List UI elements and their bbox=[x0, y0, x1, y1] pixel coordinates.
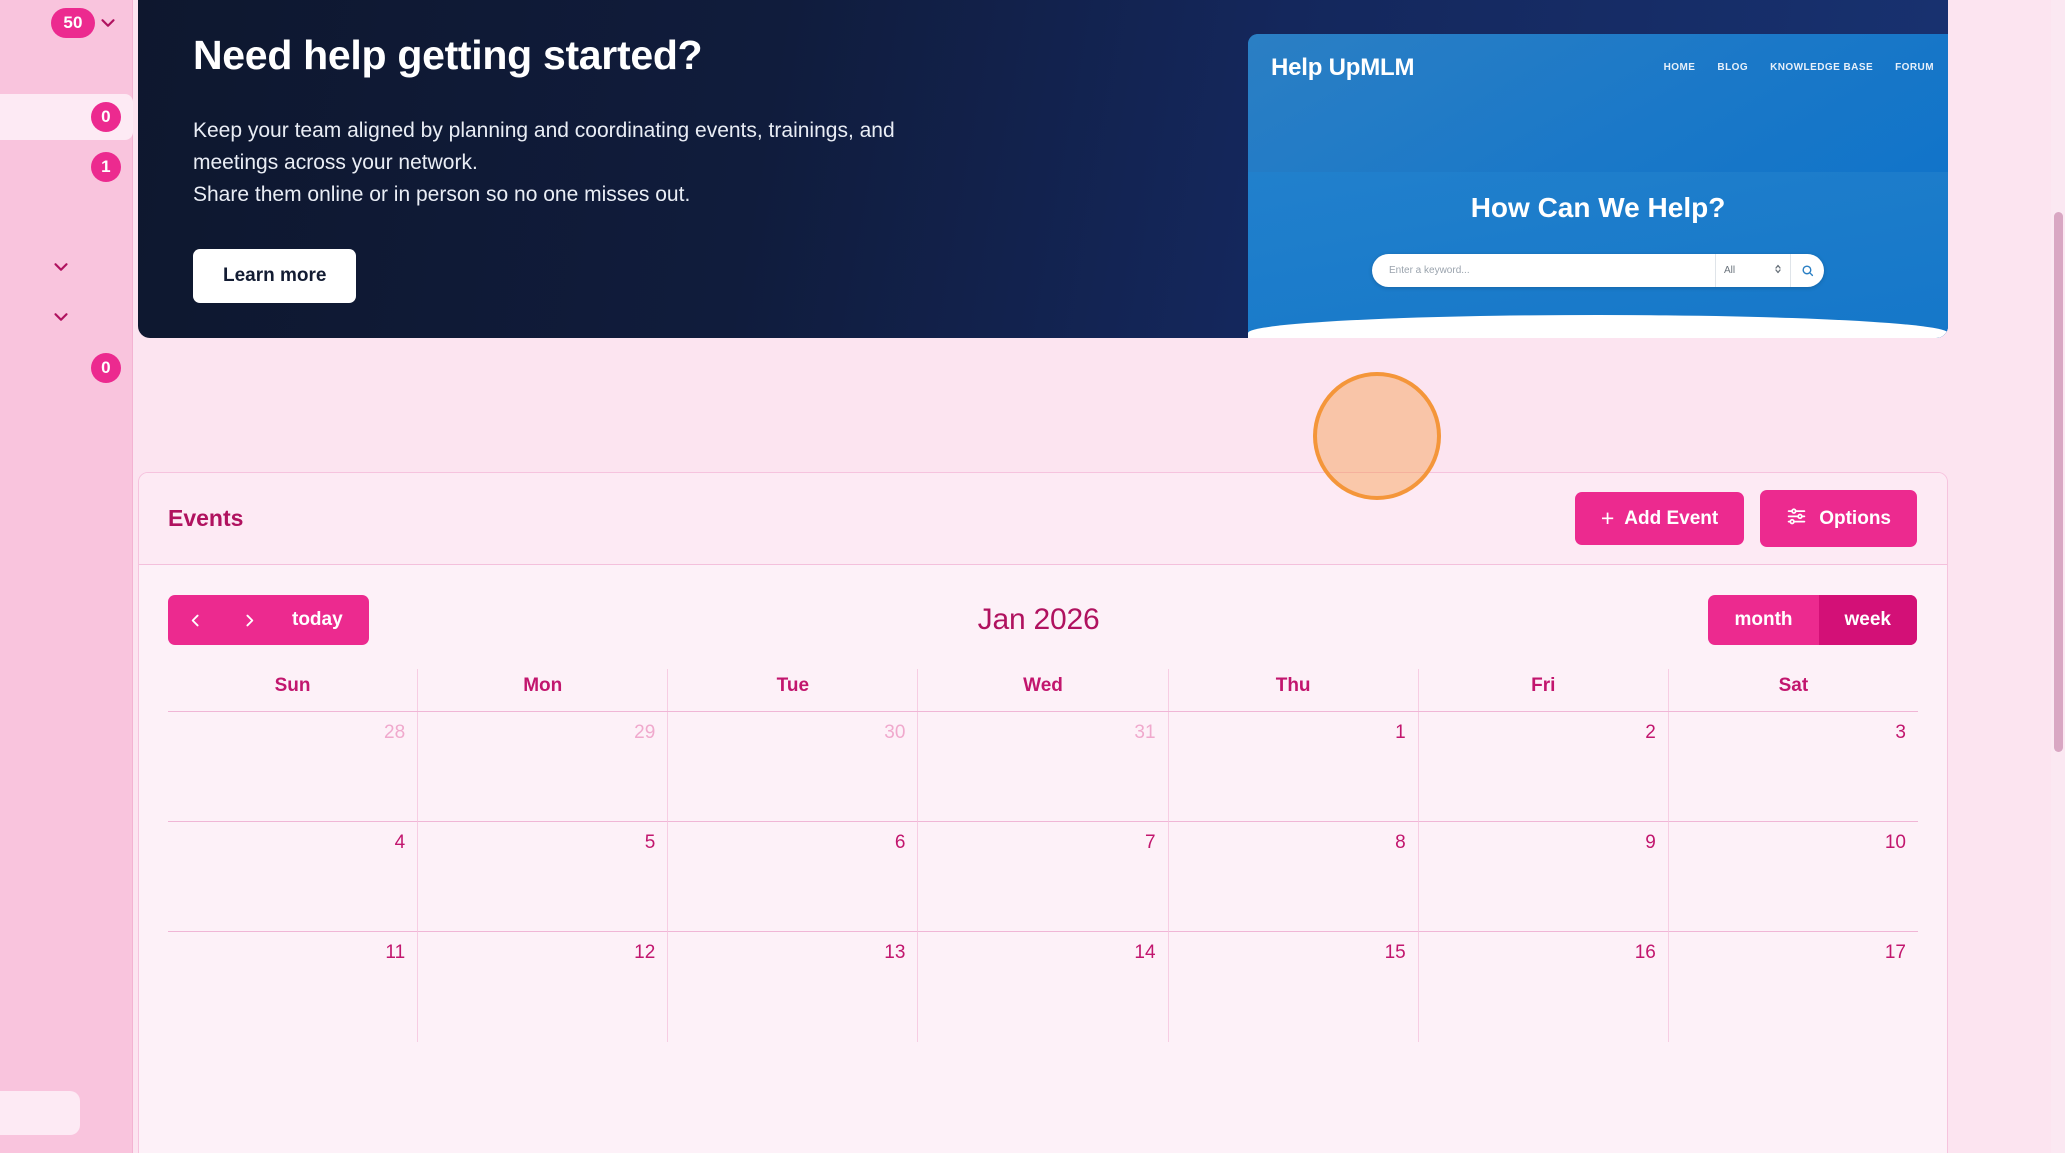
weekday-fri: Fri bbox=[1418, 669, 1668, 711]
sidebar-group-a[interactable] bbox=[0, 244, 133, 290]
calendar-day-cell[interactable]: 10 bbox=[1668, 822, 1918, 932]
learn-more-button[interactable]: Learn more bbox=[193, 249, 356, 303]
calendar-weekday-header: Sun Mon Tue Wed Thu Fri Sat bbox=[168, 669, 1918, 712]
calendar-day-cell[interactable]: 2 bbox=[1418, 712, 1668, 822]
calendar-day-cell[interactable]: 14 bbox=[917, 932, 1167, 1042]
calendar-day-number: 31 bbox=[1134, 722, 1155, 743]
sidebar-item-zero[interactable]: 0 bbox=[0, 94, 133, 140]
view-week-button[interactable]: week bbox=[1819, 595, 1917, 645]
promo-heading: Need help getting started? bbox=[193, 32, 1243, 79]
calendar-day-cell[interactable]: 30 bbox=[667, 712, 917, 822]
calendar-day-number: 4 bbox=[395, 832, 406, 853]
calendar-day-cell[interactable]: 28 bbox=[168, 712, 417, 822]
calendar-day-number: 1 bbox=[1395, 722, 1406, 743]
calendar-day-number: 16 bbox=[1635, 942, 1656, 963]
preview-nav: HOME BLOG KNOWLEDGE BASE FORUM bbox=[1664, 62, 1934, 73]
today-button[interactable]: today bbox=[276, 595, 369, 645]
weekday-wed: Wed bbox=[917, 669, 1167, 711]
options-label: Options bbox=[1819, 508, 1891, 530]
weekday-tue: Tue bbox=[667, 669, 917, 711]
events-card-header: Events + Add Event Options bbox=[139, 473, 1947, 565]
calendar-week-row: 28 29 30 31 1 2 3 bbox=[168, 712, 1918, 822]
calendar-day-number: 9 bbox=[1645, 832, 1656, 853]
calendar-day-number: 2 bbox=[1645, 722, 1656, 743]
preview-search-filter-value: All bbox=[1724, 265, 1735, 276]
sidebar-item-collapsible-top[interactable]: 50 bbox=[0, 0, 133, 46]
help-site-preview: Help UpMLM HOME BLOG KNOWLEDGE BASE FORU… bbox=[1248, 34, 1948, 338]
calendar-day-number: 12 bbox=[634, 942, 655, 963]
calendar-day-number: 10 bbox=[1885, 832, 1906, 853]
weekday-mon: Mon bbox=[417, 669, 667, 711]
page-scrollbar-thumb[interactable] bbox=[2054, 212, 2063, 752]
plus-icon: + bbox=[1601, 507, 1614, 530]
promo-paragraph-line2: meetings across your network. bbox=[193, 147, 933, 179]
calendar-day-cell[interactable]: 31 bbox=[917, 712, 1167, 822]
options-button[interactable]: Options bbox=[1760, 490, 1917, 547]
calendar-day-cell[interactable]: 8 bbox=[1168, 822, 1418, 932]
preview-nav-home[interactable]: HOME bbox=[1664, 62, 1696, 73]
preview-search-input[interactable]: Enter a keyword... bbox=[1372, 265, 1715, 276]
calendar-day-number: 8 bbox=[1395, 832, 1406, 853]
calendar-day-number: 29 bbox=[634, 722, 655, 743]
calendar-day-cell[interactable]: 29 bbox=[417, 712, 667, 822]
chevron-down-icon[interactable] bbox=[48, 254, 74, 280]
preview-nav-forum[interactable]: FORUM bbox=[1895, 62, 1934, 73]
calendar-nav-group: today bbox=[168, 595, 369, 645]
calendar-week-row: 11 12 13 14 15 16 17 bbox=[168, 932, 1918, 1042]
calendar-day-cell[interactable]: 17 bbox=[1668, 932, 1918, 1042]
calendar-day-cell[interactable]: 11 bbox=[168, 932, 417, 1042]
calendar-day-number: 7 bbox=[1145, 832, 1156, 853]
search-icon[interactable] bbox=[1790, 254, 1824, 287]
promo-paragraph-line3: Share them online or in person so no one… bbox=[193, 179, 933, 211]
calendar-day-cell[interactable]: 6 bbox=[667, 822, 917, 932]
events-card: Events + Add Event Options bbox=[138, 472, 1948, 1153]
chevron-updown-icon bbox=[1774, 263, 1782, 278]
calendar-day-cell[interactable]: 3 bbox=[1668, 712, 1918, 822]
promo-banner: Need help getting started? Keep your tea… bbox=[138, 0, 1948, 338]
page-scrollbar-track[interactable] bbox=[2051, 0, 2065, 1153]
calendar-day-number: 11 bbox=[385, 942, 405, 963]
calendar-day-cell[interactable]: 7 bbox=[917, 822, 1167, 932]
calendar-day-cell[interactable]: 1 bbox=[1168, 712, 1418, 822]
preview-hero-title: How Can We Help? bbox=[1248, 192, 1948, 224]
weekday-sun: Sun bbox=[168, 669, 417, 711]
calendar-day-cell[interactable]: 13 bbox=[667, 932, 917, 1042]
calendar-day-number: 3 bbox=[1895, 722, 1906, 743]
weekday-thu: Thu bbox=[1168, 669, 1418, 711]
main-content: Need help getting started? Keep your tea… bbox=[133, 0, 2065, 1153]
calendar-day-cell[interactable]: 16 bbox=[1418, 932, 1668, 1042]
preview-nav-knowledge-base[interactable]: KNOWLEDGE BASE bbox=[1770, 62, 1873, 73]
preview-header: Help UpMLM HOME BLOG KNOWLEDGE BASE FORU… bbox=[1248, 34, 1948, 172]
calendar-view-toggle: month week bbox=[1708, 595, 1917, 645]
calendar-day-number: 30 bbox=[884, 722, 905, 743]
prev-month-button[interactable] bbox=[168, 595, 222, 645]
calendar-day-number: 5 bbox=[645, 832, 656, 853]
calendar-day-cell[interactable]: 15 bbox=[1168, 932, 1418, 1042]
sidebar: 50 0 1 0 bbox=[0, 0, 133, 1153]
calendar-week-row: 4 5 6 7 8 9 10 bbox=[168, 822, 1918, 932]
calendar-day-number: 17 bbox=[1885, 942, 1906, 963]
sidebar-badge: 0 bbox=[91, 353, 121, 383]
add-event-label: Add Event bbox=[1624, 508, 1718, 530]
sidebar-item-one[interactable]: 1 bbox=[0, 144, 133, 190]
sidebar-badge: 50 bbox=[51, 8, 95, 38]
preview-search-bar[interactable]: Enter a keyword... All bbox=[1372, 254, 1824, 287]
sidebar-item-zero-2[interactable]: 0 bbox=[0, 345, 133, 391]
preview-nav-blog[interactable]: BLOG bbox=[1717, 62, 1748, 73]
sliders-icon bbox=[1786, 505, 1807, 532]
weekday-sat: Sat bbox=[1668, 669, 1918, 711]
calendar-month-title: Jan 2026 bbox=[978, 603, 1100, 637]
calendar-day-cell[interactable]: 9 bbox=[1418, 822, 1668, 932]
promo-paragraph-line1: Keep your team aligned by planning and c… bbox=[193, 115, 933, 147]
add-event-button[interactable]: + Add Event bbox=[1575, 492, 1744, 545]
next-month-button[interactable] bbox=[222, 595, 276, 645]
sidebar-footer-card[interactable] bbox=[0, 1091, 80, 1135]
page-title: Events bbox=[168, 505, 243, 532]
sidebar-badge: 1 bbox=[91, 152, 121, 182]
app-root: 50 0 1 0 bbox=[0, 0, 2065, 1153]
calendar-day-number: 6 bbox=[895, 832, 906, 853]
calendar-day-number: 13 bbox=[884, 942, 905, 963]
chevron-down-icon[interactable] bbox=[48, 304, 74, 330]
chevron-down-icon[interactable] bbox=[95, 10, 121, 36]
preview-hero: How Can We Help? Enter a keyword... All bbox=[1248, 172, 1948, 337]
calendar-day-number: 15 bbox=[1385, 942, 1406, 963]
preview-brand: Help UpMLM bbox=[1271, 54, 1414, 82]
calendar-day-number: 28 bbox=[384, 722, 405, 743]
calendar-grid: Sun Mon Tue Wed Thu Fri Sat 28 29 30 31 … bbox=[168, 669, 1918, 1042]
calendar-day-cell[interactable]: 5 bbox=[417, 822, 667, 932]
sidebar-group-b[interactable] bbox=[0, 294, 133, 340]
calendar-day-number: 14 bbox=[1134, 942, 1155, 963]
sidebar-badge: 0 bbox=[91, 102, 121, 132]
calendar-day-cell[interactable]: 4 bbox=[168, 822, 417, 932]
events-header-actions: + Add Event Options bbox=[1575, 490, 1917, 547]
calendar-toolbar: today Jan 2026 month week bbox=[139, 565, 1947, 669]
view-month-button[interactable]: month bbox=[1708, 595, 1818, 645]
promo-copy: Need help getting started? Keep your tea… bbox=[138, 0, 1243, 338]
preview-search-filter-select[interactable]: All bbox=[1715, 254, 1790, 287]
calendar-day-cell[interactable]: 12 bbox=[417, 932, 667, 1042]
